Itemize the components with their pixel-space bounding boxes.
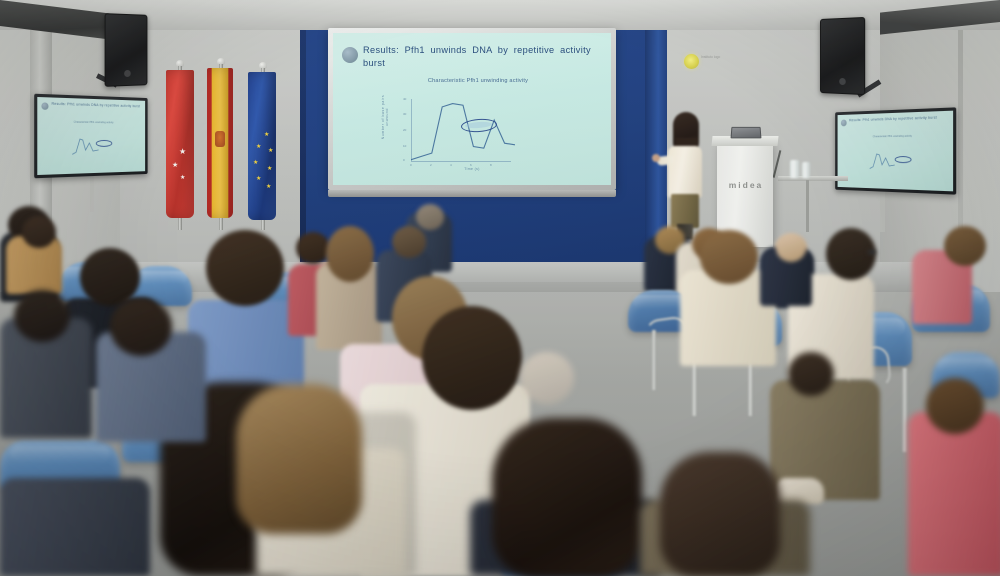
madrid-star-icon: ★	[172, 162, 178, 170]
loudspeaker-right	[820, 17, 865, 95]
madrid-star-icon: ★	[179, 148, 186, 156]
eu-star-icon: ★	[266, 184, 271, 190]
audience-person-head	[296, 232, 330, 264]
audience-person-head	[22, 216, 56, 248]
audience-person-head	[826, 228, 876, 280]
chart-x-tick: 6	[470, 163, 472, 167]
audience-person-body	[908, 412, 1000, 576]
left-confidence-monitor: Results: Pfh1 unwinds DNA by repetitive …	[34, 94, 147, 179]
projection-screen: Results: Pfh1 unwinds DNA by repetitive …	[328, 28, 616, 190]
audience-person-body	[0, 478, 150, 576]
eu-star-icon: ★	[267, 166, 272, 172]
eu-star-icon: ★	[253, 160, 258, 166]
eu-flag-cloth: ★ ★ ★ ★ ★ ★ ★	[248, 72, 276, 220]
audience-person-head	[326, 226, 374, 282]
audience-person-head	[926, 378, 984, 434]
right-monitor-slide: Results: Pfh1 unwinds DNA by repetitive …	[838, 111, 953, 192]
presenter-skirt	[671, 194, 699, 228]
slide-subtitle: Characteristic Pfh1 unwinding activity	[383, 77, 573, 85]
audience-person-head	[14, 290, 70, 342]
loudspeaker-left	[105, 13, 148, 87]
chart-y-tick: 0	[403, 158, 405, 162]
side-table	[778, 176, 848, 181]
audience-person-head	[788, 352, 834, 396]
lecture-hall-photo: Instituto logo ★ ★ ★ ★ ★ ★ ★ ★	[0, 0, 1000, 576]
right-monitor-stand	[880, 192, 885, 232]
audience-person-head	[776, 234, 806, 262]
audience-person-head	[416, 204, 444, 230]
left-monitor-slide: Results: Pfh1 unwinds DNA by repetitive …	[37, 97, 145, 175]
chart-x-tick: 2	[430, 163, 432, 167]
projection-screen-bottom-bezel	[328, 190, 616, 197]
chart-y-tick: 10	[403, 144, 406, 148]
eyeglasses	[868, 250, 876, 254]
wall-logo-text: Instituto logo	[701, 55, 735, 60]
eu-star-icon: ★	[256, 144, 261, 150]
eu-flag: ★ ★ ★ ★ ★ ★ ★	[243, 62, 285, 232]
water-bottle	[790, 160, 799, 178]
audience-person-head	[944, 226, 986, 266]
speaker-cone-icon	[839, 78, 846, 85]
chart-y-axis-label: Number of base pairs unwound	[381, 87, 389, 147]
audience-person-head	[422, 306, 522, 410]
chart-x-tick: 8	[490, 163, 492, 167]
eu-star-icon: ★	[256, 176, 261, 182]
presenter-jacket	[668, 146, 702, 198]
water-bottle	[802, 162, 810, 178]
lectern-laptop	[731, 127, 762, 138]
audience-person-head	[392, 226, 426, 258]
right-monitor-title: Results: Pfh1 unwinds DNA by repetitive …	[849, 115, 949, 123]
right-monitor-chart	[870, 151, 895, 171]
audience-person-head	[236, 384, 362, 534]
eu-star-icon: ★	[268, 148, 273, 154]
left-monitor-title: Results: Pfh1 unwinds DNA by repetitive …	[52, 102, 142, 110]
audience-person-head	[206, 230, 284, 306]
spain-flag-cloth	[207, 68, 233, 218]
chart-y-tick: 30	[403, 112, 406, 116]
left-monitor-highlight-ellipse	[96, 140, 112, 147]
spain-flag	[202, 58, 242, 230]
left-monitor-chart	[72, 136, 98, 156]
chart-y-tick: 40	[403, 97, 406, 101]
presenter	[663, 112, 709, 238]
wall-logo: Instituto logo	[684, 52, 736, 74]
moving-hand	[520, 352, 574, 404]
audience-person-head	[80, 248, 140, 306]
audience-person-head	[700, 230, 758, 284]
audience-person-head	[110, 298, 172, 356]
audience-person-head	[492, 418, 642, 576]
madrid-star-icon: ★	[180, 174, 185, 182]
left-monitor-stand	[90, 176, 94, 212]
chart-x-tick: 0	[410, 163, 412, 167]
left-monitor-subtitle: Characteristic Pfh1 unwinding activity	[61, 121, 126, 125]
madrid-flag-cloth: ★ ★ ★	[166, 70, 194, 218]
speaker-cone-icon	[124, 70, 131, 77]
circle-logo-bullet-icon	[841, 120, 847, 127]
chart-x-tick: 4	[450, 163, 452, 167]
right-confidence-monitor: Results: Pfh1 unwinds DNA by repetitive …	[835, 107, 956, 194]
projected-slide: Results: Pfh1 unwinds DNA by repetitive …	[333, 33, 611, 185]
spain-coat-of-arms	[215, 131, 225, 147]
slide-chart: Number of base pairs unwound Time (s) 40…	[389, 95, 549, 179]
flower-logo-icon	[684, 54, 699, 69]
circle-logo-bullet-icon	[342, 47, 358, 63]
circle-logo-bullet-icon	[41, 102, 48, 110]
madrid-flag: ★ ★ ★	[162, 60, 202, 230]
slide-title: Results: Pfh1 unwinds DNA by repetitive …	[363, 44, 591, 69]
lectern-label: midea	[722, 180, 770, 190]
side-table-leg	[806, 180, 809, 232]
right-monitor-subtitle: Characteristic Pfh1 unwinding activity	[859, 134, 928, 139]
audience-person-head	[660, 452, 780, 576]
right-monitor-highlight-ellipse	[894, 156, 911, 163]
eu-star-icon: ★	[264, 132, 269, 138]
presenter-hand	[652, 154, 660, 162]
chart-x-axis-label: Time (s)	[437, 167, 507, 171]
chart-y-tick: 20	[403, 128, 406, 132]
